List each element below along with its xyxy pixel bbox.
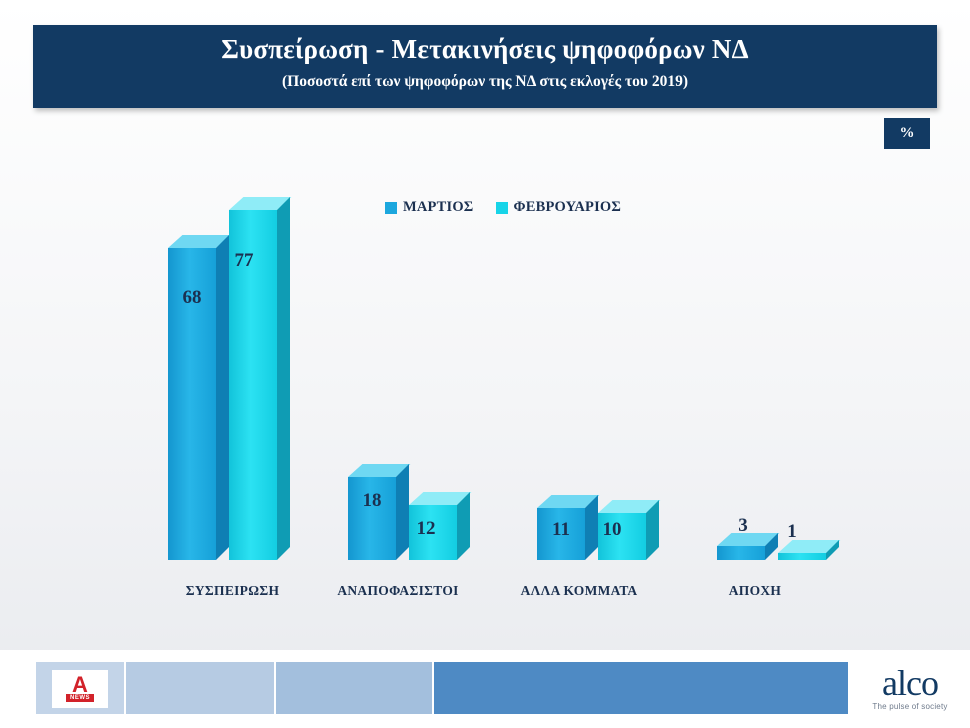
bar-face [598, 513, 646, 560]
bar-face [537, 508, 585, 560]
alpha-news-label: NEWS [66, 694, 94, 702]
bar-top [168, 235, 230, 248]
footer-strip-3 [276, 662, 432, 714]
legend-swatch-march [385, 202, 397, 214]
bar-face [778, 553, 826, 560]
unit-badge: % [884, 118, 930, 149]
bar-february-0 [229, 210, 277, 560]
title-banner: Συσπείρωση - Μετακινήσεις ψηφοφόρων ΝΔ (… [33, 25, 937, 108]
bar-top [409, 492, 471, 505]
alco-tagline: The pulse of society [855, 702, 965, 711]
bar-face [717, 546, 765, 560]
category-label-2: ΑΛΛΑ ΚΟΜΜΑΤΑ [478, 583, 680, 599]
value-label-february-1: 12 [396, 518, 456, 540]
category-label-0: ΣΥΣΠΕΙΡΩΣΗ [130, 583, 335, 599]
alco-name: alco [855, 664, 965, 702]
footer-strip-4 [434, 662, 848, 714]
bar-top [717, 533, 779, 546]
bar-face [409, 505, 457, 560]
bar-side [457, 492, 470, 560]
bar-february-2 [598, 513, 646, 560]
alpha-news-logo: A NEWS [52, 670, 108, 708]
bar-march-1 [348, 477, 396, 560]
footer-strip-2 [126, 662, 274, 714]
category-label-1: ΑΝΑΠΟΦΑΣΙΣΤΟΙ [290, 583, 506, 599]
category-label-3: ΑΠΟΧΗ [672, 583, 838, 599]
bar-side [396, 464, 409, 560]
legend-item-february: ΦΕΒΡΟΥΑΡΙΟΣ [496, 199, 622, 216]
bar-march-3 [717, 546, 765, 560]
value-label-february-0: 77 [214, 250, 274, 272]
bar-top [537, 495, 599, 508]
bar-side [585, 495, 598, 560]
legend-label-march: ΜΑΡΤΙΟΣ [403, 199, 474, 216]
bar-face [229, 210, 277, 560]
chart-plot-area: 68 77 ΣΥΣΠΕΙΡΩΣΗ 18 12 ΑΝΑΠΟΦΑΣΙΣΤΟΙ [0, 0, 970, 728]
legend-label-february: ΦΕΒΡΟΥΑΡΙΟΣ [514, 199, 622, 216]
bar-side [765, 533, 778, 560]
bar-side [277, 197, 290, 560]
slide: Συσπείρωση - Μετακινήσεις ψηφοφόρων ΝΔ (… [0, 0, 970, 728]
alpha-a-icon: A [72, 676, 88, 694]
bar-march-0 [168, 248, 216, 560]
bar-side [216, 235, 229, 560]
footer-bar: A NEWS alco The pulse of society [0, 650, 970, 728]
page-subtitle: (Ποσοστά επί των ψηφοφόρων της ΝΔ στις ε… [33, 73, 937, 91]
bar-side [826, 540, 839, 560]
value-label-march-1: 18 [342, 490, 402, 512]
page-title: Συσπείρωση - Μετακινήσεις ψηφοφόρων ΝΔ [33, 34, 937, 65]
legend-swatch-february [496, 202, 508, 214]
chart-legend: ΜΑΡΤΙΟΣ ΦΕΒΡΟΥΑΡΙΟΣ [385, 199, 621, 216]
bar-top [348, 464, 410, 477]
bar-top [229, 197, 291, 210]
value-label-february-2: 10 [582, 519, 642, 541]
value-label-march-2: 11 [531, 519, 591, 541]
bar-face [348, 477, 396, 560]
value-label-february-3: 1 [762, 521, 822, 543]
bar-march-2 [537, 508, 585, 560]
bar-top [778, 540, 840, 553]
value-label-march-0: 68 [162, 287, 222, 309]
bar-top [598, 500, 660, 513]
bar-face [168, 248, 216, 560]
value-label-march-3: 3 [713, 515, 773, 537]
bar-side [646, 500, 659, 560]
bar-february-3 [778, 553, 826, 560]
alco-logo: alco The pulse of society [855, 664, 965, 711]
legend-item-march: ΜΑΡΤΙΟΣ [385, 199, 474, 216]
bar-february-1 [409, 505, 457, 560]
